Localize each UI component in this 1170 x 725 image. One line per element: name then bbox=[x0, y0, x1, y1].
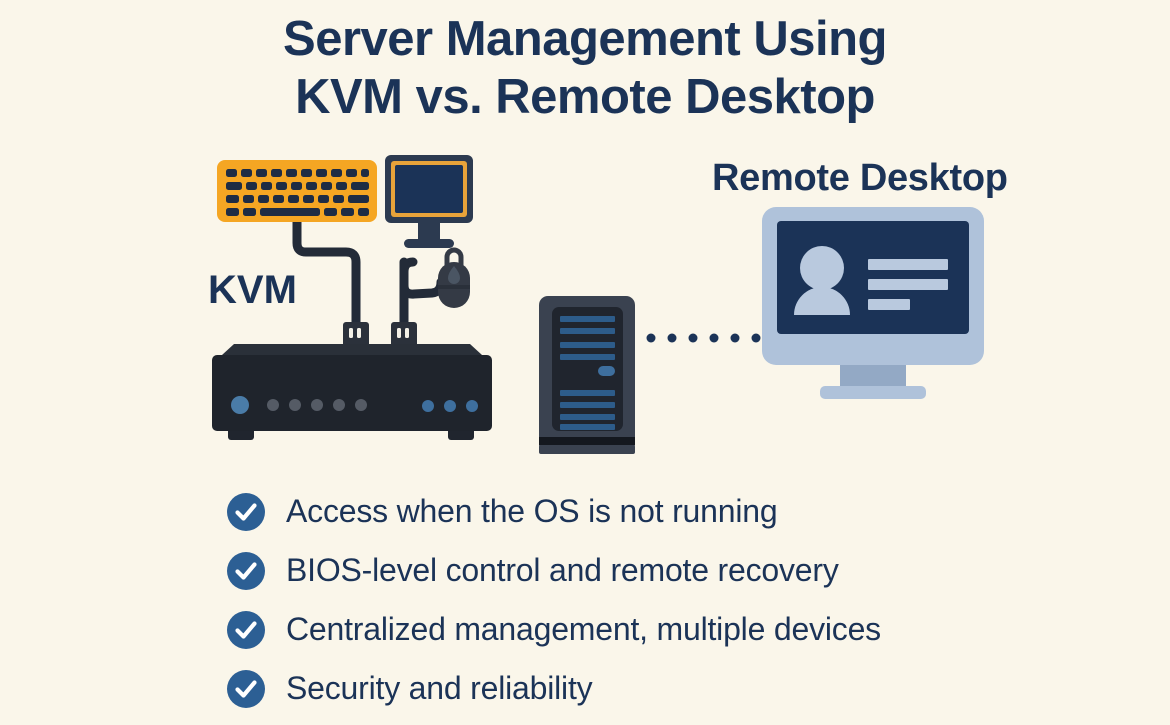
kvm-monitor-icon bbox=[385, 155, 473, 248]
list-item-label: Centralized management, multiple devices bbox=[286, 611, 881, 648]
keyboard-cable bbox=[297, 222, 356, 325]
feature-list: Access when the OS is not running BIOS-l… bbox=[226, 482, 1086, 718]
infographic-canvas: Server Management Using KVM vs. Remote D… bbox=[0, 0, 1170, 725]
list-item-label: Security and reliability bbox=[286, 670, 592, 707]
kvm-switch-icon bbox=[212, 344, 492, 440]
list-item: Security and reliability bbox=[226, 659, 1086, 718]
keyboard-icon bbox=[217, 160, 377, 222]
kvm-label: KVM bbox=[208, 268, 297, 313]
diagram-illustration bbox=[0, 0, 1170, 480]
check-circle-icon bbox=[226, 492, 266, 532]
list-item: BIOS-level control and remote recovery bbox=[226, 541, 1086, 600]
check-circle-icon bbox=[226, 551, 266, 591]
server-tower-icon bbox=[539, 296, 635, 454]
check-circle-icon bbox=[226, 669, 266, 709]
list-item: Access when the OS is not running bbox=[226, 482, 1086, 541]
mouse-icon bbox=[438, 250, 470, 308]
list-item-label: BIOS-level control and remote recovery bbox=[286, 552, 839, 589]
list-item-label: Access when the OS is not running bbox=[286, 493, 777, 530]
check-circle-icon bbox=[226, 610, 266, 650]
mouse-cable bbox=[404, 262, 441, 325]
remote-desktop-label: Remote Desktop bbox=[712, 157, 1008, 200]
remote-desktop-monitor-icon bbox=[762, 207, 984, 399]
list-item: Centralized management, multiple devices bbox=[226, 600, 1086, 659]
